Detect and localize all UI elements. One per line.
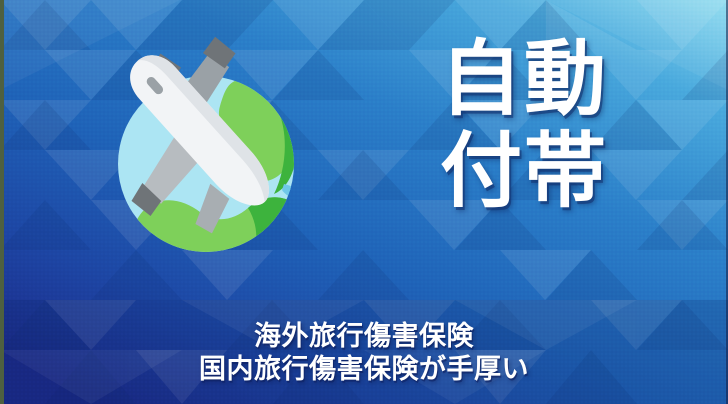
left-border-accent: [0, 0, 4, 404]
headline-line-1: 自動: [364, 38, 684, 122]
headline-line-2: 付帯: [364, 130, 684, 214]
subtitle-line-1: 海外旅行傷害保険: [0, 320, 728, 353]
globe-with-airplane-illustration: [88, 34, 318, 264]
subtitle: 海外旅行傷害保険 国内旅行傷害保険が手厚い: [0, 320, 728, 386]
insurance-promo-banner: 自動 付帯 海外旅行傷害保険 国内旅行傷害保険が手厚い: [0, 0, 728, 404]
headline: 自動 付帯: [364, 38, 684, 213]
subtitle-line-2: 国内旅行傷害保険が手厚い: [0, 353, 728, 386]
